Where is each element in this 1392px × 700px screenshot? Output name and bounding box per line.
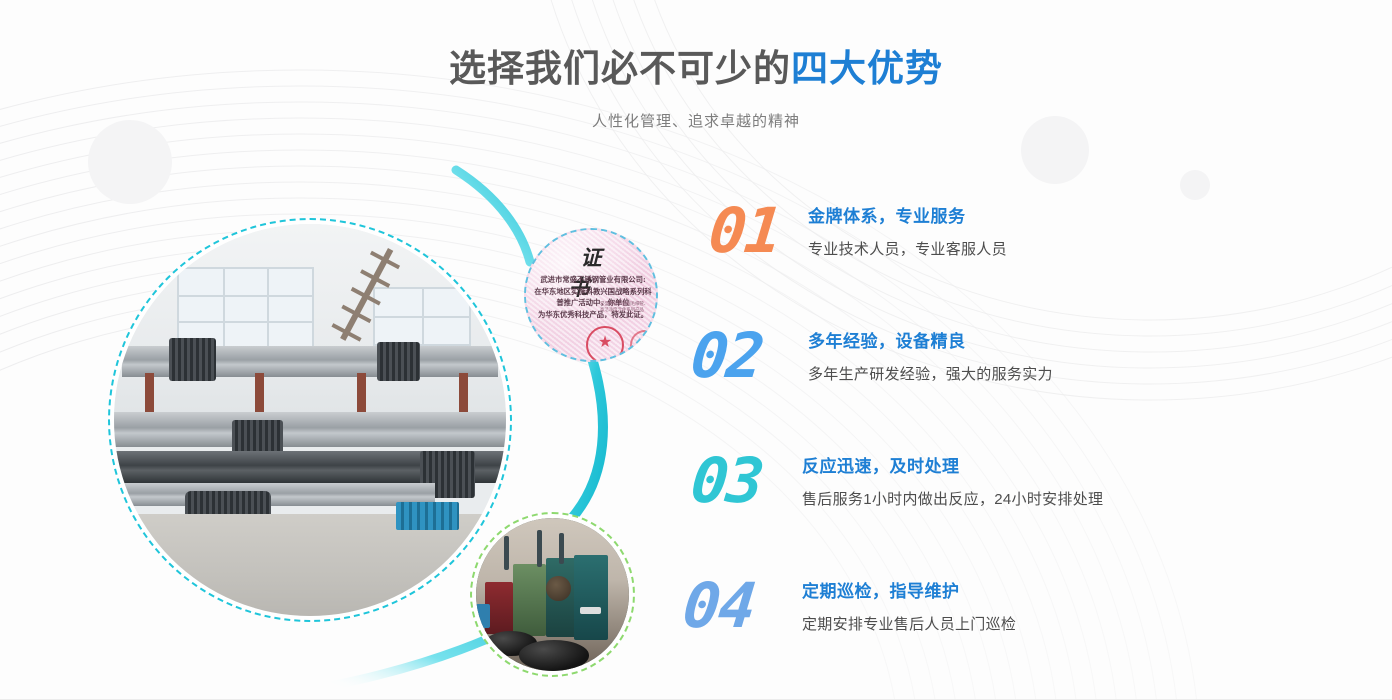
advantage-desc-02: 多年生产研发经验，强大的服务实力 (808, 355, 1053, 389)
advantage-desc-01: 专业技术人员，专业客服人员 (808, 230, 1007, 264)
pipe-bundle (377, 342, 420, 381)
advantage-item-02[interactable]: 02 多年经验，设备精良 多年生产研发经验，强大的服务实力 (660, 329, 1300, 454)
title-plain: 选择我们必不可少的 (449, 48, 791, 89)
blue-bin (476, 604, 490, 628)
certificate-line-1: 武进市常盛不锈钢管业有限公司: (529, 274, 658, 286)
advantage-title-02: 多年经验，设备精良 (808, 329, 1053, 355)
advantage-desc-04: 定期安排专业售后人员上门巡检 (802, 605, 1016, 639)
pipe-rack-mid (114, 412, 506, 447)
warehouse-photo-circle (108, 218, 512, 622)
machine-pan-right (519, 640, 589, 671)
blue-crate (396, 502, 459, 529)
machine-label (580, 607, 601, 615)
section-header: 选择我们必不可少的四大优势 人性化管理、追求卓越的精神 (0, 0, 1392, 131)
advantage-text-04: 定期巡检，指导维护 定期安排专业售后人员上门巡检 (802, 579, 1016, 639)
advantage-title-04: 定期巡检，指导维护 (802, 579, 1016, 605)
machine-photo (476, 518, 629, 671)
certificate-line-2: 在华东地区实施科教兴国战略系列科 (529, 286, 658, 298)
machine-pipe (559, 533, 564, 564)
advantage-desc-03: 售后服务1小时内做出反应，24小时安排处理 (802, 480, 1103, 514)
window-right (373, 287, 471, 346)
advantage-number-04: 04 (631, 575, 758, 637)
advantage-number-01: 01 (657, 200, 784, 262)
certificate-circle: 证 书 武进市常盛不锈钢管业有限公司: 在华东地区实施科教兴国战略系列科 普推广… (524, 228, 658, 362)
advantage-number-03: 03 (639, 450, 766, 512)
pipe-rack-bottom (114, 483, 435, 507)
advantage-text-03: 反应迅速，及时处理 售后服务1小时内做出反应，24小时安排处理 (802, 454, 1103, 514)
advantage-item-04[interactable]: 04 定期巡检，指导维护 定期安排专业售后人员上门巡检 (660, 579, 1300, 700)
pipe-bundle (169, 338, 216, 381)
page-subtitle: 人性化管理、追求卓越的精神 (0, 92, 1392, 131)
machine-pipe (537, 530, 542, 567)
advantage-title-03: 反应迅速，及时处理 (802, 454, 1103, 480)
machine-photo-circle (470, 512, 635, 677)
machine-pipe (504, 536, 509, 570)
advantage-title-01: 金牌体系，专业服务 (808, 204, 1007, 230)
advantages-section: 选择我们必不可少的四大优势 人性化管理、追求卓越的精神 (0, 0, 1392, 700)
advantage-number-02: 02 (639, 325, 766, 387)
title-highlight: 四大优势 (791, 48, 943, 89)
machine-teal-2 (574, 555, 608, 641)
advantage-item-01[interactable]: 01 金牌体系，专业服务 专业技术人员，专业客服人员 (660, 204, 1300, 329)
page-title: 选择我们必不可少的四大优势 (0, 0, 1392, 92)
warehouse-photo (114, 224, 506, 616)
advantage-list: 01 金牌体系，专业服务 专业技术人员，专业客服人员 02 多年经验，设备精良 … (660, 204, 1300, 700)
machine-green-1 (513, 564, 547, 636)
advantage-text-02: 多年经验，设备精良 多年生产研发经验，强大的服务实力 (808, 329, 1053, 389)
machine-wheel-icon (546, 576, 570, 600)
certificate-fine-print: 常盛精密不锈钢毛细管、高洁净度元件系列产品 (600, 302, 650, 314)
advantage-item-03[interactable]: 03 反应迅速，及时处理 售后服务1小时内做出反应，24小时安排处理 (660, 454, 1300, 579)
advantage-text-01: 金牌体系，专业服务 专业技术人员，专业客服人员 (808, 204, 1007, 264)
certificate-seal-icon (586, 326, 624, 362)
